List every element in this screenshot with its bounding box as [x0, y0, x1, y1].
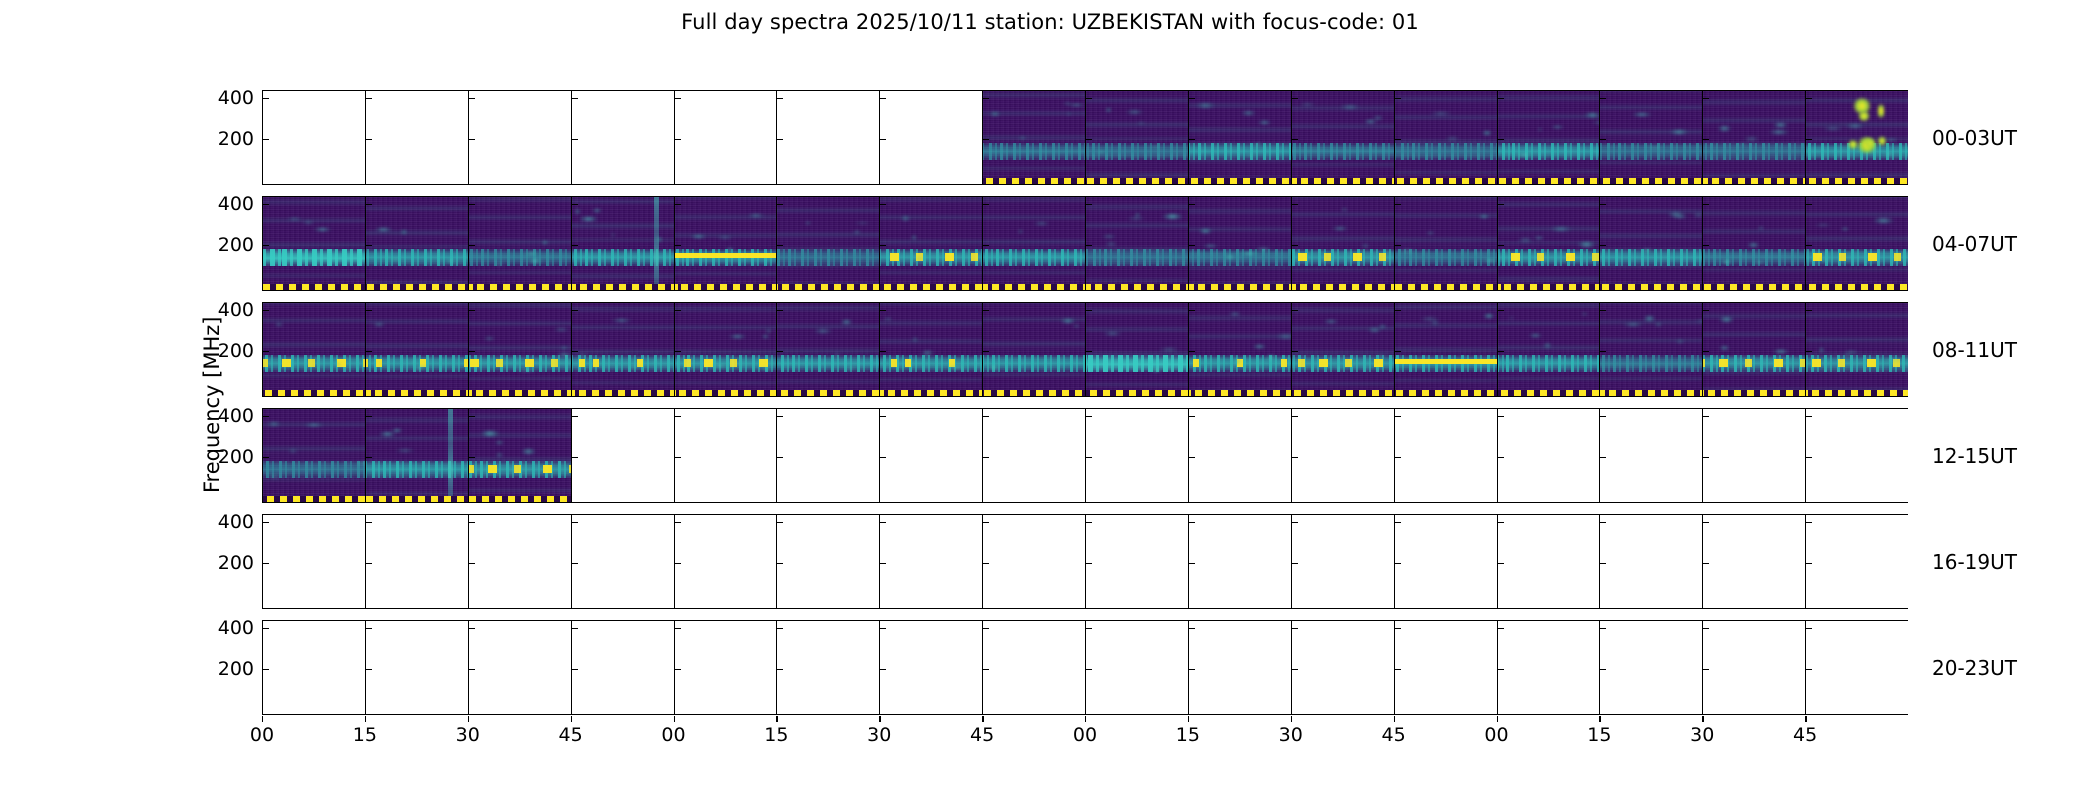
- faint-emission-patch: [351, 462, 365, 464]
- y-axis-tick: [1600, 204, 1606, 205]
- spectrogram-panel[interactable]: [1805, 302, 1908, 397]
- faint-emission-patch: [267, 474, 282, 479]
- baseline-marker-row: [983, 178, 1085, 184]
- faint-emission-patch: [1750, 261, 1770, 264]
- spectrogram-panel[interactable]: [776, 302, 879, 397]
- baseline-marker-row: [1703, 284, 1805, 290]
- spectrogram-cell: [1189, 197, 1291, 290]
- emission-band-cyan: [366, 249, 468, 266]
- y-axis-tick: [1292, 669, 1298, 670]
- y-axis-tick: [675, 98, 681, 99]
- spectrogram-panel[interactable]: [1394, 302, 1497, 397]
- horizontal-stripes: [1189, 303, 1291, 396]
- spectrogram-panel[interactable]: [571, 302, 674, 397]
- baseline-marker-row: [469, 284, 571, 290]
- faint-emission-patch: [1427, 112, 1455, 115]
- spectrogram-panel[interactable]: [982, 302, 1085, 397]
- spectrogram-cell: [1806, 197, 1908, 290]
- spectrogram-row: 40020000-03UT: [262, 90, 1908, 185]
- y-axis-tick: [469, 310, 475, 311]
- spectrogram-panel[interactable]: [1291, 620, 1394, 715]
- faint-emission-patch: [383, 256, 390, 259]
- baseline-marker-row: [366, 284, 468, 290]
- spectrogram-cell: [1600, 91, 1702, 184]
- baseline-marker-row: [1600, 390, 1702, 396]
- faint-emission-patch: [851, 222, 874, 224]
- faint-emission-patch: [494, 441, 505, 444]
- y-axis-tick: [983, 457, 989, 458]
- faint-emission-patch: [1103, 242, 1119, 246]
- spectrogram-panel[interactable]: [1497, 302, 1600, 397]
- spectrogram-panel[interactable]: [879, 90, 982, 185]
- y-axis-tick: [983, 669, 989, 670]
- spectrogram-panel[interactable]: [1599, 408, 1702, 503]
- spectrogram-panel[interactable]: [674, 620, 777, 715]
- faint-emission-patch: [811, 329, 835, 333]
- spectrogram-panel[interactable]: [674, 90, 777, 185]
- y-axis-tick: [983, 98, 989, 99]
- spectrogram-panel[interactable]: [262, 302, 365, 397]
- spectrogram-cell: [1395, 91, 1497, 184]
- spectrogram-panel[interactable]: [982, 514, 1085, 609]
- y-axis-tick-label: 400: [218, 511, 254, 533]
- spectrogram-row: 40020004-07UT: [262, 196, 1908, 291]
- spectrogram-panel[interactable]: [982, 90, 1085, 185]
- spectrogram-cell: [263, 303, 365, 396]
- spectrogram-panel[interactable]: [674, 514, 777, 609]
- spectrogram-panel[interactable]: [1085, 408, 1188, 503]
- horizontal-stripes: [1498, 91, 1600, 184]
- faint-emission-patch: [1239, 111, 1258, 115]
- y-axis-tick: [1806, 669, 1812, 670]
- spectrogram-panel[interactable]: [1085, 620, 1188, 715]
- horizontal-stripes: [675, 197, 777, 290]
- faint-emission-patch: [1642, 147, 1667, 149]
- spectrogram-cell: [366, 409, 468, 502]
- faint-emission-patch: [1879, 359, 1906, 361]
- x-axis-tick-label: 15: [353, 724, 377, 746]
- horizontal-stripes: [1086, 197, 1188, 290]
- faint-emission-patch: [1256, 121, 1273, 124]
- y-axis-tick: [366, 139, 372, 140]
- spectrogram-panel[interactable]: [571, 620, 674, 715]
- y-axis-tick: [572, 522, 578, 523]
- y-axis-tick: [263, 351, 269, 352]
- y-axis-tick: [1806, 563, 1812, 564]
- spectrogram-panel[interactable]: [1085, 302, 1188, 397]
- y-axis-tick: [1395, 245, 1401, 246]
- spectrogram-panel[interactable]: [1599, 302, 1702, 397]
- y-axis-tick: [263, 245, 269, 246]
- spectrogram-panel[interactable]: [1805, 620, 1908, 715]
- spectrogram-cell: [1600, 197, 1702, 290]
- y-axis-tick: [777, 139, 783, 140]
- x-axis-tick: [262, 716, 263, 722]
- spectrogram-panel[interactable]: [674, 196, 777, 291]
- spectrogram-panel[interactable]: [571, 408, 674, 503]
- spectrogram-panel[interactable]: [1497, 408, 1600, 503]
- y-axis-tick: [675, 563, 681, 564]
- y-axis-tick: [366, 310, 372, 311]
- spectrogram-panel[interactable]: [1599, 514, 1702, 609]
- faint-emission-patch: [1193, 103, 1219, 108]
- y-axis-tick: [1189, 139, 1195, 140]
- spectrogram-panel[interactable]: [1188, 302, 1291, 397]
- y-axis-tick: [675, 669, 681, 670]
- emission-band-yellow: [675, 253, 777, 258]
- baseline-marker-row: [1189, 390, 1291, 396]
- y-axis-tick: [263, 457, 269, 458]
- horizontal-stripes: [1600, 197, 1702, 290]
- spectrogram-panel[interactable]: [1497, 196, 1600, 291]
- emission-band-yellow: [263, 359, 365, 367]
- spectrogram-panel[interactable]: [1702, 408, 1805, 503]
- horizontal-stripes: [1086, 91, 1188, 184]
- spectrogram-panel[interactable]: [674, 408, 777, 503]
- baseline-marker-row: [1703, 178, 1805, 184]
- emission-band-cyan: [1498, 355, 1600, 372]
- faint-emission-patch: [1870, 218, 1897, 222]
- spectrogram-panel[interactable]: [365, 90, 468, 185]
- spectrogram-panel[interactable]: [879, 408, 982, 503]
- spectrogram-panel[interactable]: [1188, 196, 1291, 291]
- y-axis-tick: [1806, 628, 1812, 629]
- spectrogram-panel[interactable]: [1394, 90, 1497, 185]
- spectrogram-panel[interactable]: [262, 90, 365, 185]
- spectrogram-panel[interactable]: [571, 196, 674, 291]
- spectrogram-row: 40020008-11UT: [262, 302, 1908, 397]
- baseline-marker-row: [1189, 284, 1291, 290]
- y-axis-tick: [1600, 628, 1606, 629]
- y-axis-tick: [263, 416, 269, 417]
- spectrogram-panel[interactable]: [365, 620, 468, 715]
- faint-emission-patch: [986, 365, 1001, 369]
- x-axis-tick: [776, 716, 777, 722]
- spectrogram-panel[interactable]: [1085, 90, 1188, 185]
- baseline-marker-row: [777, 390, 879, 396]
- y-axis-tick-label: 400: [218, 617, 254, 639]
- spectrogram-panel[interactable]: [365, 196, 468, 291]
- spectrogram-panel[interactable]: [262, 620, 365, 715]
- axes-area: Frequency [MHz] 40020000-03UT40020004-07…: [262, 90, 1908, 716]
- spectrogram-cell: [1189, 303, 1291, 396]
- faint-emission-patch: [576, 354, 589, 357]
- spectrogram-panel[interactable]: [1702, 302, 1805, 397]
- spectrogram-panel[interactable]: [1394, 196, 1497, 291]
- y-axis-tick: [1086, 98, 1092, 99]
- y-axis-tick: [880, 416, 886, 417]
- spectrogram-cell: [675, 197, 777, 290]
- spectrogram-panel[interactable]: [1291, 408, 1394, 503]
- y-axis-tick: [1395, 563, 1401, 564]
- faint-emission-patch: [1066, 113, 1072, 115]
- baseline-marker-row: [1292, 178, 1394, 184]
- spectrogram-panel[interactable]: [776, 196, 879, 291]
- faint-emission-patch: [1366, 328, 1383, 332]
- y-axis-tick: [777, 669, 783, 670]
- faint-emission-patch: [559, 347, 569, 349]
- y-axis-tick: [572, 457, 578, 458]
- spectrogram-panel[interactable]: [879, 302, 982, 397]
- spectrogram-panel[interactable]: [1805, 196, 1908, 291]
- spectrogram-panel[interactable]: [1291, 302, 1394, 397]
- horizontal-stripes: [572, 303, 674, 396]
- y-axis-tick: [1292, 310, 1298, 311]
- y-axis-tick: [1498, 310, 1504, 311]
- spectrogram-panel[interactable]: [982, 408, 1085, 503]
- spectrogram-panel[interactable]: [468, 90, 571, 185]
- spectrogram-row: 40020012-15UT: [262, 408, 1908, 503]
- faint-emission-patch: [523, 251, 539, 255]
- spectrogram-panel[interactable]: [879, 620, 982, 715]
- spectrogram-panel[interactable]: [468, 408, 571, 503]
- faint-emission-patch: [323, 250, 333, 253]
- faint-emission-patch: [852, 231, 861, 233]
- x-axis-tick-label: 30: [456, 724, 480, 746]
- baseline-marker-row: [1086, 284, 1188, 290]
- horizontal-stripes: [983, 197, 1085, 290]
- emission-band-cyan: [983, 249, 1085, 266]
- y-axis-tick: [1395, 669, 1401, 670]
- horizontal-stripes: [675, 303, 777, 396]
- spectrogram-cell: [366, 197, 468, 290]
- spectrogram-panel[interactable]: [1599, 620, 1702, 715]
- y-axis-tick: [880, 245, 886, 246]
- y-axis-tick: [469, 204, 475, 205]
- baseline-marker-row: [366, 390, 468, 396]
- y-axis-tick: [1703, 563, 1709, 564]
- spectrogram-panel[interactable]: [776, 514, 879, 609]
- y-axis-tick: [469, 669, 475, 670]
- y-axis-tick: [1189, 522, 1195, 523]
- faint-emission-patch: [390, 429, 404, 432]
- y-axis-tick: [572, 204, 578, 205]
- y-axis-tick: [572, 139, 578, 140]
- spectrogram-panel[interactable]: [1188, 514, 1291, 609]
- y-axis-tick: [675, 522, 681, 523]
- spectrogram-panel[interactable]: [468, 302, 571, 397]
- y-axis-tick: [1703, 522, 1709, 523]
- y-axis-tick: [1703, 669, 1709, 670]
- faint-emission-patch: [1757, 227, 1764, 229]
- y-axis-tick: [366, 351, 372, 352]
- faint-emission-patch: [371, 323, 387, 327]
- y-axis-tick: [1086, 416, 1092, 417]
- spectrogram-panel[interactable]: [1599, 196, 1702, 291]
- y-axis-tick: [1189, 457, 1195, 458]
- y-axis-tick: [1600, 457, 1606, 458]
- spectrogram-cell: [1703, 303, 1805, 396]
- faint-emission-patch: [1665, 212, 1687, 217]
- spectrogram-panel[interactable]: [571, 90, 674, 185]
- y-axis-tick: [366, 204, 372, 205]
- spectrogram-panel[interactable]: [1497, 90, 1600, 185]
- horizontal-stripes: [1292, 303, 1394, 396]
- solar-burst-blob: [1865, 139, 1875, 148]
- baseline-marker-row: [366, 496, 468, 502]
- spectrogram-panel[interactable]: [365, 408, 468, 503]
- y-axis-tick: [1189, 416, 1195, 417]
- spectrogram-panel[interactable]: [1291, 196, 1394, 291]
- x-axis-tick: [365, 716, 366, 722]
- x-axis-tick-label: 30: [1279, 724, 1303, 746]
- baseline-marker-row: [1498, 390, 1600, 396]
- spectrogram-panel[interactable]: [1702, 196, 1805, 291]
- x-axis-tick-label: 30: [867, 724, 891, 746]
- emission-band-cyan: [1395, 143, 1497, 160]
- spectrogram-cell: [263, 197, 365, 290]
- spectrogram-cell: [469, 303, 571, 396]
- y-axis-tick: [880, 351, 886, 352]
- y-axis-tick: [1806, 245, 1812, 246]
- faint-emission-patch: [444, 259, 458, 262]
- faint-emission-patch: [912, 337, 918, 341]
- faint-emission-patch: [1718, 346, 1731, 349]
- y-axis-tick: [366, 628, 372, 629]
- faint-emission-patch: [1159, 214, 1186, 219]
- y-axis-tick: [880, 563, 886, 564]
- faint-emission-patch: [1297, 103, 1318, 106]
- horizontal-stripes: [880, 197, 982, 290]
- y-axis-tick: [675, 204, 681, 205]
- faint-emission-patch: [1337, 105, 1364, 108]
- y-axis-tick: [983, 204, 989, 205]
- y-axis-tick: [366, 669, 372, 670]
- spectrogram-panel[interactable]: [468, 196, 571, 291]
- y-axis-tick: [1189, 669, 1195, 670]
- spectrogram-cell: [675, 303, 777, 396]
- spectrogram-panel[interactable]: [879, 196, 982, 291]
- spectrogram-panel[interactable]: [982, 620, 1085, 715]
- row-time-range-label: 08-11UT: [1932, 338, 2017, 362]
- y-axis-tick: [1292, 245, 1298, 246]
- y-axis-tick: [263, 563, 269, 564]
- faint-emission-patch: [1065, 104, 1085, 107]
- spectrogram-cell: [777, 197, 879, 290]
- horizontal-stripes: [777, 303, 879, 396]
- faint-emission-patch: [1252, 248, 1275, 250]
- faint-emission-patch: [1575, 242, 1598, 247]
- spectrogram-cell: [1395, 197, 1497, 290]
- emission-band-yellow: [880, 253, 982, 261]
- spectrogram-cell: [983, 197, 1085, 290]
- x-axis-tick: [1805, 716, 1806, 722]
- spectrogram-panel[interactable]: [1702, 620, 1805, 715]
- spectrogram-panel[interactable]: [1599, 90, 1702, 185]
- spectrogram-panel[interactable]: [262, 514, 365, 609]
- y-axis-tick: [1703, 204, 1709, 205]
- spectrogram-panel[interactable]: [1805, 408, 1908, 503]
- y-axis-tick: [1292, 457, 1298, 458]
- faint-emission-patch: [1227, 313, 1244, 315]
- spectrogram-panel[interactable]: [262, 196, 365, 291]
- spectrogram-panel[interactable]: [468, 620, 571, 715]
- emission-band-cyan: [1600, 143, 1702, 160]
- page-title: Full day spectra 2025/10/11 station: UZB…: [0, 10, 2100, 34]
- spectrogram-panel[interactable]: [365, 514, 468, 609]
- faint-emission-patch: [1058, 319, 1078, 323]
- faint-emission-patch: [900, 216, 910, 220]
- spectrogram-panel[interactable]: [1188, 408, 1291, 503]
- spectrogram-panel[interactable]: [365, 302, 468, 397]
- spectrogram-panel[interactable]: [1188, 90, 1291, 185]
- spectrogram-panel[interactable]: [1085, 514, 1188, 609]
- spectrogram-cell: [983, 91, 1085, 184]
- faint-emission-patch: [1361, 244, 1370, 248]
- spectrogram-cell: [777, 303, 879, 396]
- spectrogram-cell: [1395, 303, 1497, 396]
- horizontal-stripes: [366, 303, 468, 396]
- y-axis-tick: [1806, 351, 1812, 352]
- y-axis-tick: [1086, 139, 1092, 140]
- spectrogram-cell: [880, 303, 982, 396]
- baseline-marker-row: [1292, 284, 1394, 290]
- baseline-marker-row: [1086, 390, 1188, 396]
- spectrogram-panel[interactable]: [1497, 620, 1600, 715]
- spectrogram-panel[interactable]: [468, 514, 571, 609]
- row-time-range-label: 00-03UT: [1932, 126, 2017, 150]
- figure-root: Full day spectra 2025/10/11 station: UZB…: [0, 0, 2100, 800]
- y-axis-tick: [469, 351, 475, 352]
- spectrogram-panel[interactable]: [776, 90, 879, 185]
- y-axis-tick: [1086, 204, 1092, 205]
- y-axis-tick: [1600, 310, 1606, 311]
- spectrogram-panel[interactable]: [1188, 620, 1291, 715]
- spectrogram-row: 40020016-19UT: [262, 514, 1908, 609]
- faint-emission-patch: [1017, 230, 1024, 232]
- faint-emission-patch: [1417, 317, 1442, 321]
- spectrogram-panel[interactable]: [1394, 514, 1497, 609]
- y-axis-tick: [1498, 563, 1504, 564]
- spectrogram-cell: [1292, 197, 1394, 290]
- spectrogram-panel[interactable]: [1702, 514, 1805, 609]
- y-axis-tick: [777, 457, 783, 458]
- faint-emission-patch: [1642, 316, 1657, 321]
- spectrogram-panel[interactable]: [1394, 408, 1497, 503]
- y-axis-tick: [1395, 457, 1401, 458]
- spectrogram-cell: [469, 409, 571, 502]
- spectrogram-panel[interactable]: [1702, 90, 1805, 185]
- y-axis-tick: [1498, 669, 1504, 670]
- y-axis-tick: [1189, 204, 1195, 205]
- spectrogram-panel[interactable]: [1291, 514, 1394, 609]
- y-axis-tick: [1498, 98, 1504, 99]
- x-axis-tick-label: 00: [250, 724, 274, 746]
- baseline-marker-row: [263, 496, 365, 502]
- spectrogram-panel[interactable]: [1291, 90, 1394, 185]
- spectrogram-panel[interactable]: [776, 408, 879, 503]
- baseline-marker-row: [1395, 178, 1497, 184]
- spectrogram-panel[interactable]: [1394, 620, 1497, 715]
- spectrogram-panel[interactable]: [262, 408, 365, 503]
- spectrogram-panel[interactable]: [1805, 514, 1908, 609]
- spectrogram-panel[interactable]: [776, 620, 879, 715]
- spectrogram-panel[interactable]: [879, 514, 982, 609]
- baseline-marker-row: [1086, 178, 1188, 184]
- faint-emission-patch: [1843, 124, 1867, 127]
- x-axis-tick: [1394, 716, 1395, 722]
- y-axis-tick-label: 200: [218, 128, 254, 150]
- spectrogram-panel[interactable]: [674, 302, 777, 397]
- spectrogram-panel[interactable]: [1497, 514, 1600, 609]
- spectrogram-panel[interactable]: [982, 196, 1085, 291]
- y-axis-tick: [1498, 351, 1504, 352]
- spectrogram-panel[interactable]: [571, 514, 674, 609]
- y-axis-tick: [777, 204, 783, 205]
- y-axis-tick: [1703, 416, 1709, 417]
- spectrogram-panel[interactable]: [1805, 90, 1908, 185]
- spectrogram-panel[interactable]: [1085, 196, 1188, 291]
